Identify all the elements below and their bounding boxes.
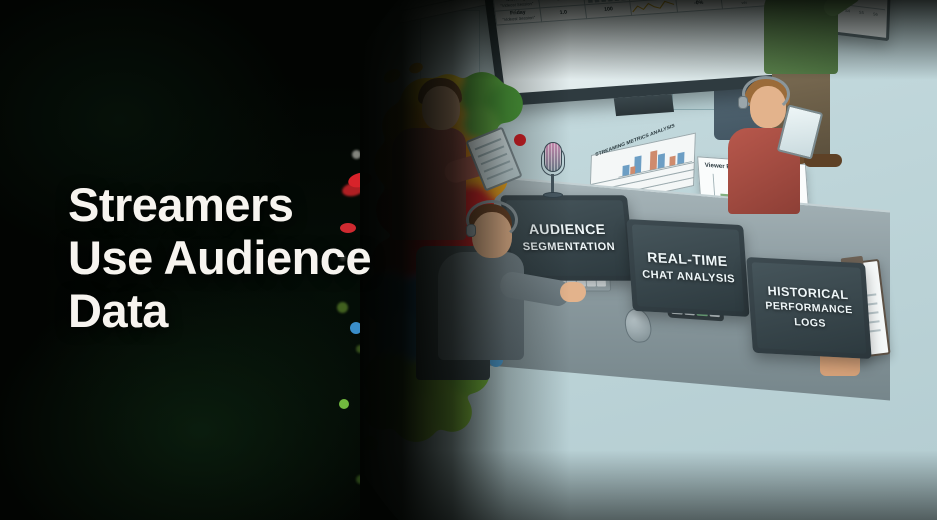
cell-session: Friday "Videost Session" [495,8,542,25]
monitor-realtime-chat-analysis[interactable]: REAL-TIME CHAT ANALYSIS [626,219,749,317]
headline-line-2: Use Audience [68,231,428,284]
cell-chat-sparkline [630,0,677,15]
headphones-icon [742,76,790,112]
banner-canvas: Streamers Use Audience Data [0,0,937,520]
monitor-screen: REAL-TIME CHAT ANALYSIS [632,224,744,311]
cell-sub-growth: -0% [675,0,722,12]
mic-head [544,142,562,172]
page-title: Streamers Use Audience Data [68,178,428,337]
headline-line-3: Data [68,284,428,337]
monitor-label: HISTORICAL PERFORMANCE LOGS [764,284,854,332]
monitor-historical-performance-logs[interactable]: HISTORICAL PERFORMANCE LOGS [746,257,871,359]
person-head [422,86,460,130]
person-torso [438,252,524,360]
monitor-label: REAL-TIME CHAT ANALYSIS [641,250,736,286]
headphone-cup [738,96,748,109]
dashboard-table: STREAM SESSION AVG. VIEWERS PEAK VIEWERS… [485,0,768,26]
person-hand [560,282,586,302]
monitor-screen: HISTORICAL PERFORMANCE LOGS [752,262,867,353]
cell-avg-viewers: 1.0 [540,5,587,22]
sparkline-yellow [631,0,677,14]
headline-line-1: Streamers [68,178,428,231]
person-with-tablet-right [722,72,818,212]
person-operator-seated [420,190,570,380]
headphone-cup [466,224,476,237]
cell-peak-viewers: 100 [585,1,632,18]
svg-text:S6: S6 [873,11,879,17]
mouse[interactable] [622,307,654,343]
svg-text:S5: S5 [859,10,865,16]
